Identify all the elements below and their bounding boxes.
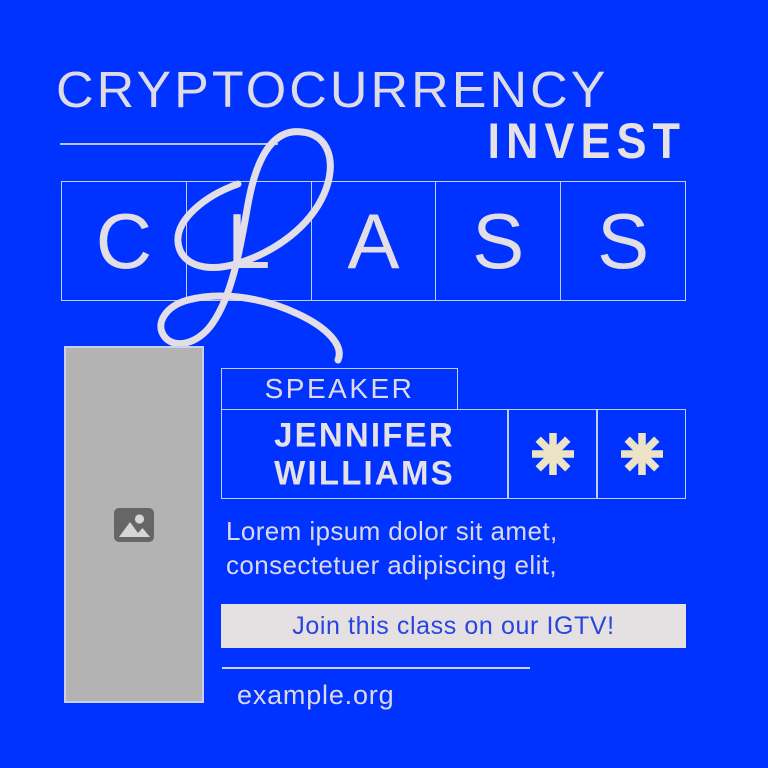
class-letter-cell: S bbox=[560, 181, 686, 301]
speaker-name-line-2: WILLIAMS bbox=[274, 453, 455, 493]
page-title-primary: CRYPTOCURRENCY bbox=[56, 64, 729, 116]
divider-top bbox=[60, 143, 278, 145]
image-icon bbox=[113, 504, 155, 546]
class-letter-grid: C L A S S bbox=[61, 181, 686, 301]
asterisk-star-icon bbox=[618, 430, 666, 478]
speaker-image-placeholder[interactable] bbox=[64, 346, 204, 703]
page-title-secondary: INVEST bbox=[487, 115, 686, 167]
body-copy-line-1: Lorem ipsum dolor sit amet, bbox=[226, 514, 696, 548]
cta-banner[interactable]: Join this class on our IGTV! bbox=[221, 604, 686, 648]
asterisk-box-1 bbox=[508, 409, 597, 499]
speaker-name-line-1: JENNIFER bbox=[274, 415, 455, 455]
class-letter-cell: C bbox=[61, 181, 186, 301]
class-letter-cell: A bbox=[311, 181, 436, 301]
asterisk-star-icon bbox=[529, 430, 577, 478]
class-letter-cell: L bbox=[186, 181, 311, 301]
speaker-label: SPEAKER bbox=[265, 373, 415, 405]
asterisk-box-2 bbox=[597, 409, 686, 499]
divider-footer bbox=[222, 667, 530, 669]
class-letter-cell: S bbox=[435, 181, 560, 301]
speaker-name-box: JENNIFER WILLIAMS bbox=[221, 409, 508, 499]
speaker-label-box: SPEAKER bbox=[221, 368, 458, 410]
footer-url[interactable]: example.org bbox=[237, 680, 394, 711]
cta-label: Join this class on our IGTV! bbox=[292, 612, 614, 641]
poster-canvas: CRYPTOCURRENCY INVEST C L A S S SPEAKER bbox=[0, 0, 768, 768]
body-copy-line-2: consectetuer adipiscing elit, bbox=[226, 548, 696, 582]
body-copy: Lorem ipsum dolor sit amet, consectetuer… bbox=[226, 514, 696, 582]
